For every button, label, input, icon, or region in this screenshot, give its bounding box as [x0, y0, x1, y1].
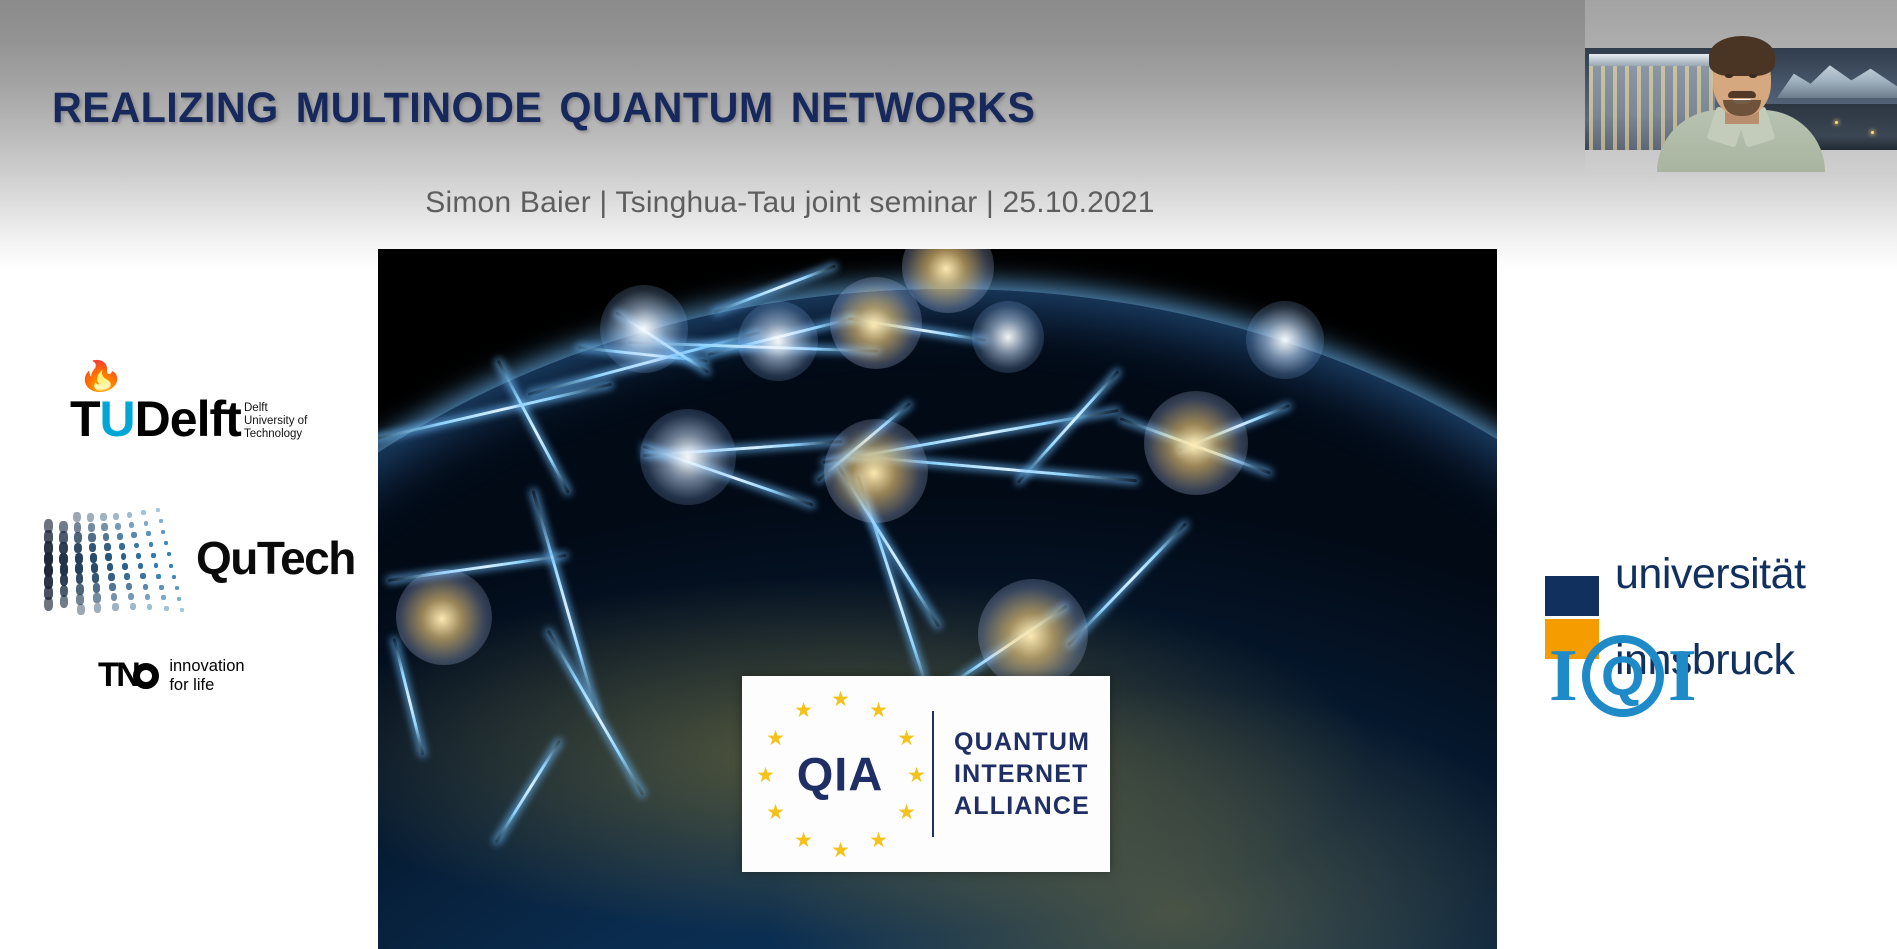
qutech-dot: [107, 563, 114, 571]
qutech-dot: [109, 583, 116, 591]
eu-star-icon: ★: [869, 701, 888, 720]
qutech-dot: [76, 573, 84, 584]
qutech-dot: [140, 573, 145, 579]
qutech-dot: [164, 541, 168, 545]
qutech-dot: [172, 575, 176, 579]
qutech-dot: [147, 604, 152, 610]
iqi-center-letter: Q: [1582, 635, 1664, 717]
network-node: [978, 579, 1088, 689]
qutech-dot: [124, 573, 130, 580]
qutech-dot: [103, 533, 110, 541]
tud-letter-delft: Delft: [135, 391, 241, 447]
qutech-dot: [161, 595, 166, 600]
qutech-dot: [119, 543, 125, 550]
presenter-figure: [1657, 22, 1825, 172]
qutech-dot: [74, 532, 82, 543]
eu-star-icon: ★: [766, 729, 785, 748]
qia-text-block: QUANTUM INTERNET ALLIANCE: [954, 726, 1090, 822]
qutech-dot: [128, 593, 134, 600]
qutech-dot: [129, 522, 134, 528]
street-light: [1871, 131, 1874, 134]
qutech-dot: [73, 512, 81, 523]
qia-line-1: QUANTUM: [954, 726, 1090, 758]
qutech-dot: [138, 563, 143, 569]
qutech-dot: [88, 523, 95, 533]
eu-star-icon: ★: [831, 841, 850, 860]
qutech-dot: [113, 513, 119, 520]
presenter-hair: [1709, 36, 1775, 76]
tud-letter-u: U: [100, 391, 135, 447]
page-title: Realizing multinode quantum networks: [52, 68, 1300, 136]
qutech-dot: [88, 533, 95, 543]
network-node: [396, 569, 492, 665]
qutech-dot: [89, 543, 96, 553]
eu-star-icon: ★: [897, 729, 916, 748]
qutech-dot: [167, 552, 171, 556]
qutech-dot: [75, 553, 83, 564]
tud-letter-t: T: [70, 391, 100, 447]
qutech-dot: [159, 585, 164, 590]
qutech-dot: [91, 563, 98, 573]
qutech-dot: [156, 574, 161, 579]
network-node: [640, 409, 736, 505]
qutech-dot: [175, 586, 179, 590]
presenter-eye-left: [1725, 74, 1733, 78]
tno-o-letter: [133, 663, 159, 689]
qutech-dot: [161, 530, 165, 534]
qutech-dot: [112, 603, 119, 611]
slide-subtitle: Simon Baier | Tsinghua-Tau joint seminar…: [0, 186, 1580, 220]
tno-tagline: innovation for life: [169, 657, 244, 695]
qutech-logo: QuTech: [38, 502, 355, 614]
qutech-dot: [130, 603, 136, 610]
network-node: [600, 285, 688, 373]
qutech-dot: [159, 519, 163, 523]
qutech-dot: [100, 513, 107, 521]
tu-delft-letters: TUDelft: [70, 394, 241, 444]
network-node: [824, 419, 928, 523]
eu-star-icon: ★: [766, 803, 785, 822]
iqi-left-letter: I: [1549, 639, 1578, 713]
eu-star-icon: ★: [869, 831, 888, 850]
qutech-dot: [117, 533, 123, 540]
presenter-eyebrow-left: [1722, 68, 1735, 71]
tno-logo: TN innovation for life: [98, 656, 245, 695]
network-node: [1246, 301, 1324, 379]
qutech-dot: [146, 531, 151, 536]
iqi-circled-q: Q: [1582, 635, 1664, 717]
qutech-dot: [60, 595, 68, 607]
presenter-webcam-feed[interactable]: [1585, 0, 1897, 172]
qutech-dot: [93, 593, 100, 603]
qutech-dot: [141, 510, 146, 515]
eu-star-icon: ★: [794, 831, 813, 850]
qutech-dot: [76, 584, 84, 595]
qia-logo-card: ★ ★ ★ ★ ★ ★ ★ ★ ★ ★ ★ ★ QIA QUANTUM INTE…: [742, 676, 1110, 872]
qutech-dot: [180, 608, 184, 612]
qutech-dot: [156, 508, 160, 512]
qutech-dot: [76, 594, 84, 605]
qutech-dot: [74, 522, 82, 533]
network-node: [1144, 391, 1248, 495]
qutech-dot: [108, 573, 115, 581]
qutech-dot: [101, 523, 108, 531]
presenter-eye-right: [1749, 74, 1757, 78]
qutech-sphere-mark: [38, 502, 178, 614]
eu-star-circle: ★ ★ ★ ★ ★ ★ ★ ★ ★ ★ ★ ★ QIA: [754, 688, 926, 860]
qutech-dot: [169, 564, 173, 568]
qutech-dot: [134, 543, 139, 549]
qutech-dot: [149, 542, 154, 547]
qutech-dot: [74, 543, 82, 554]
presentation-slide: Realizing multinode quantum networks Sim…: [0, 0, 1897, 949]
tu-delft-logo: 🔥 TUDelft Delft University of Technology: [70, 382, 307, 444]
uibk-line-1: universität: [1615, 553, 1805, 596]
qutech-dot: [151, 553, 156, 558]
qutech-dot: [93, 583, 100, 593]
qutech-dot: [154, 563, 159, 568]
qutech-dot: [77, 604, 85, 615]
qutech-dot: [121, 553, 127, 560]
tno-wordmark: TN: [98, 656, 138, 695]
qutech-dot: [164, 606, 169, 611]
qutech-dot: [87, 513, 94, 523]
eu-star-icon: ★: [756, 766, 775, 785]
qutech-dot: [105, 553, 112, 561]
street-light: [1835, 121, 1838, 124]
qia-line-2: INTERNET: [954, 758, 1090, 790]
qutech-dot: [136, 553, 141, 559]
presenter-mustache: [1728, 91, 1756, 98]
eu-star-icon: ★: [794, 701, 813, 720]
eu-star-icon: ★: [831, 690, 850, 709]
uibk-square-navy: [1545, 576, 1599, 616]
iqi-logo: I Q I: [1549, 635, 1697, 717]
eu-star-icon: ★: [907, 766, 926, 785]
eu-star-icon: ★: [897, 803, 916, 822]
qutech-dot: [44, 597, 53, 611]
qutech-dot: [115, 523, 121, 530]
tu-delft-tagline: Delft University of Technology: [244, 402, 307, 441]
qutech-dot: [127, 512, 132, 518]
qutech-dot: [122, 563, 128, 570]
presenter-eyebrow-right: [1746, 68, 1759, 71]
qia-wordmark: QIA: [797, 747, 884, 802]
network-node: [972, 301, 1044, 373]
iqi-right-letter: I: [1668, 639, 1697, 713]
qia-divider: [932, 711, 934, 837]
qia-line-3: ALLIANCE: [954, 790, 1090, 822]
qutech-dot: [104, 543, 111, 551]
qutech-dot: [92, 573, 99, 583]
qutech-wordmark: QuTech: [196, 531, 355, 585]
qutech-dot: [75, 563, 83, 574]
qutech-dot: [143, 584, 148, 590]
qutech-dot: [94, 603, 101, 613]
qutech-dot: [90, 553, 97, 563]
qutech-dot: [145, 594, 150, 600]
qutech-dot: [131, 532, 136, 538]
qutech-dot: [177, 597, 181, 601]
qutech-dot: [144, 521, 149, 526]
network-node: [738, 301, 818, 381]
tu-delft-mark: 🔥 TUDelft: [70, 382, 240, 444]
qutech-dot: [126, 583, 132, 590]
qutech-dot: [111, 593, 118, 601]
